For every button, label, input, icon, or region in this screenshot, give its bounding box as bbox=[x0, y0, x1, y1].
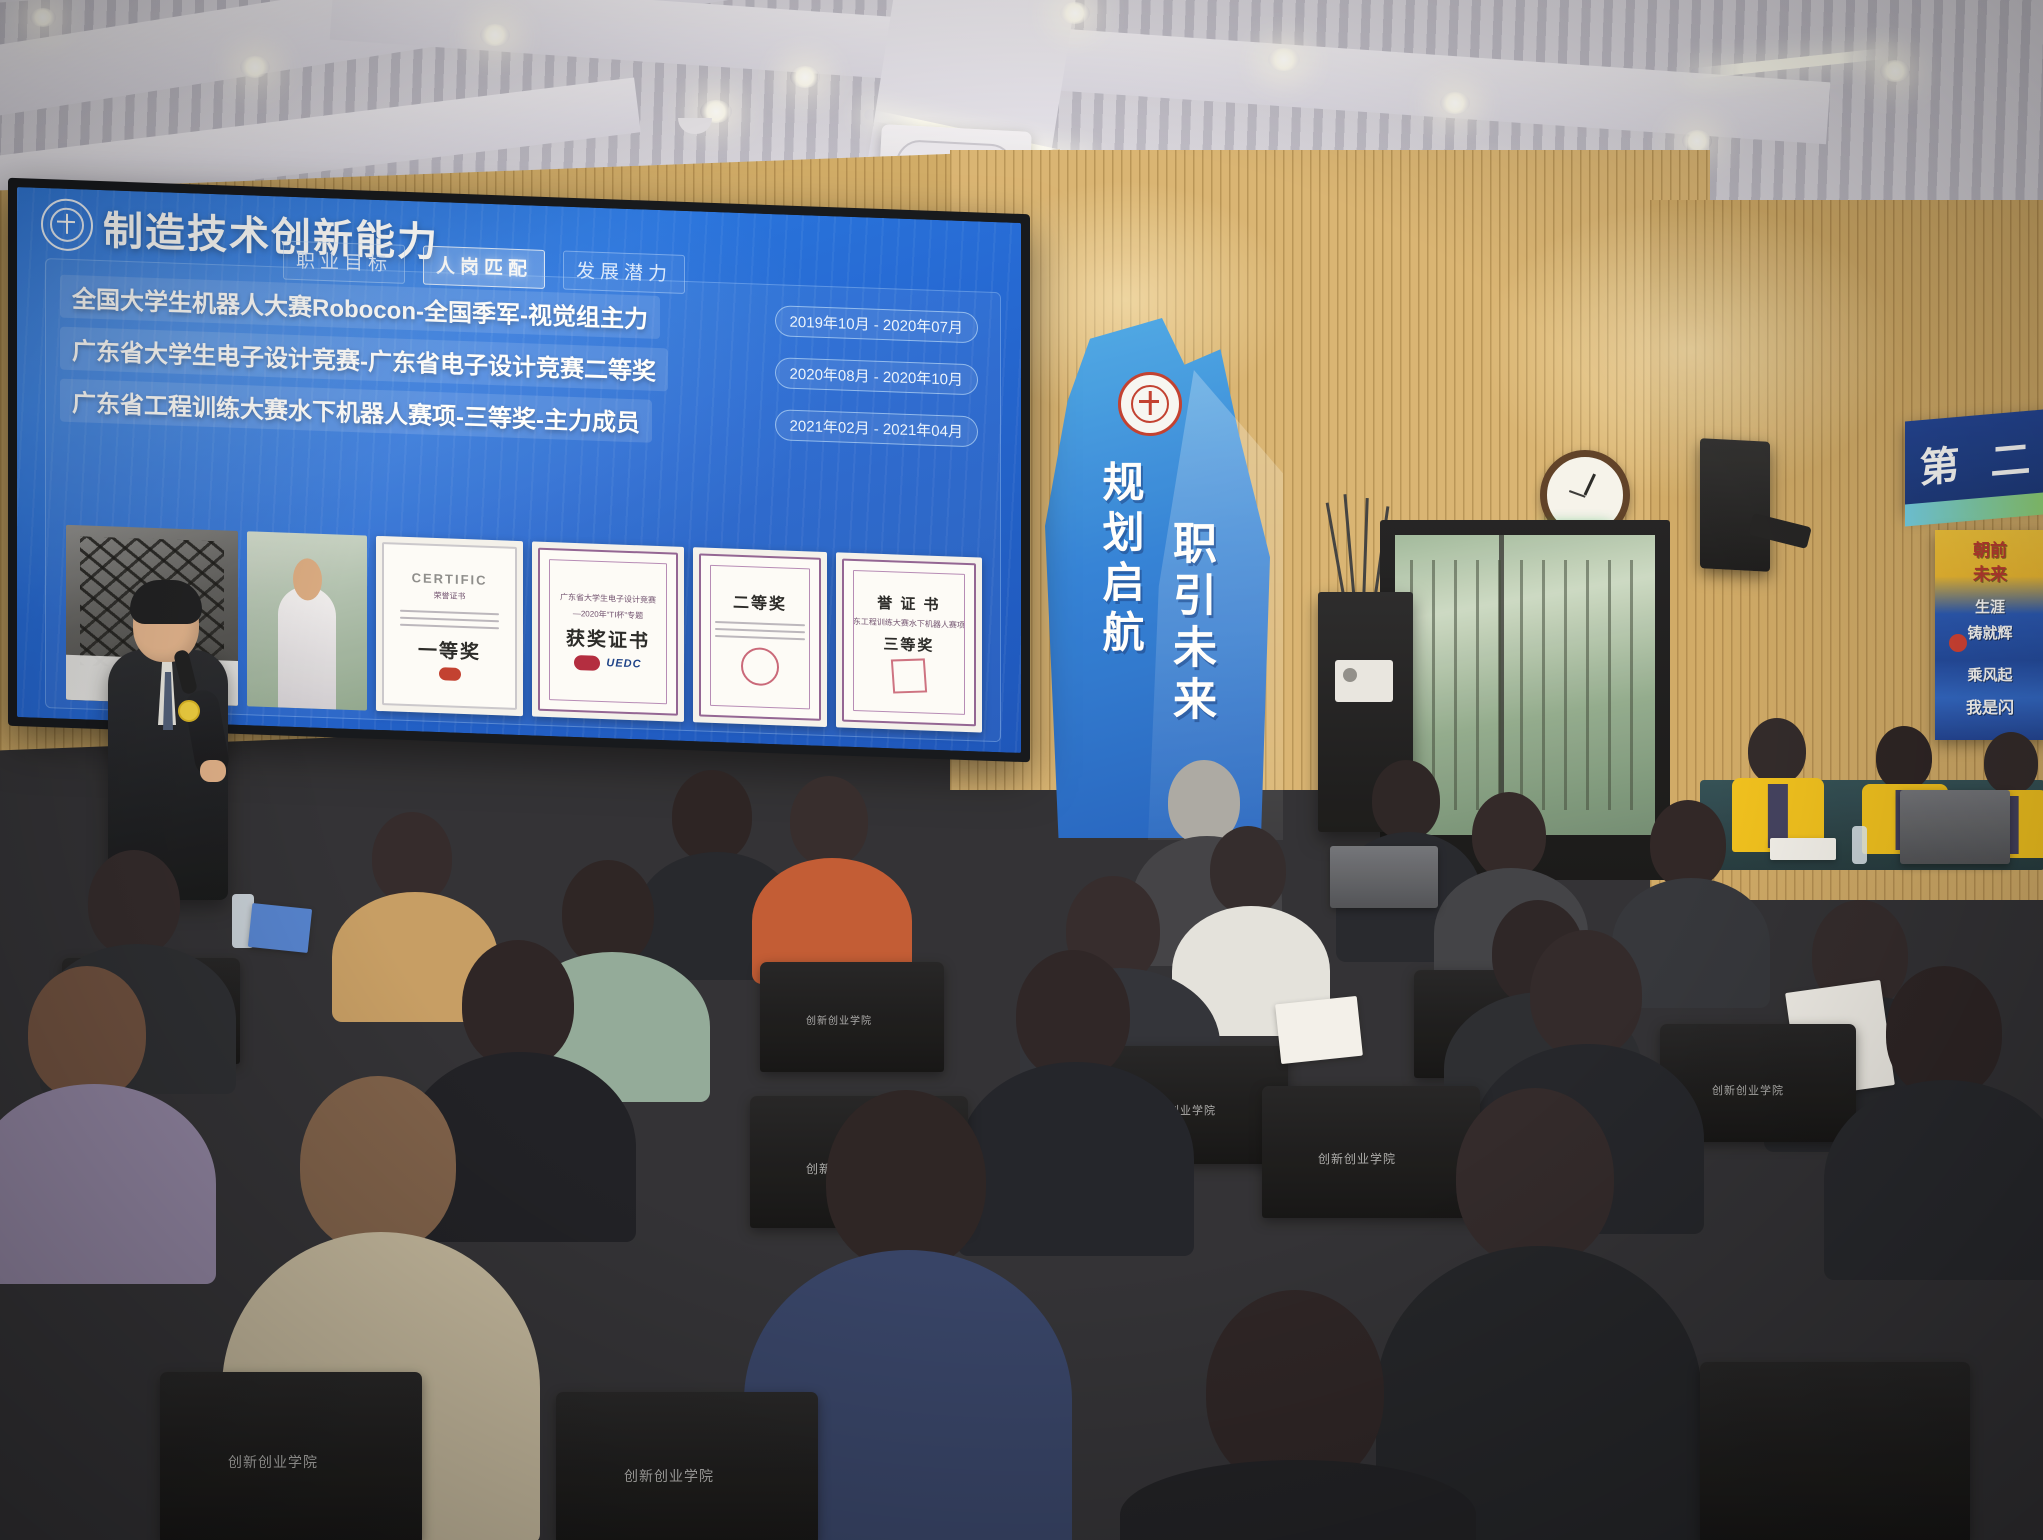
chair-label: 创新创业学院 bbox=[624, 1466, 714, 1486]
door-louvre-bars bbox=[1410, 560, 1640, 810]
chair-label: 创新创业学院 bbox=[1712, 1082, 1784, 1098]
audience-head bbox=[372, 812, 452, 904]
ti-logo-icon bbox=[574, 654, 600, 670]
poster-line: 乘风起 bbox=[1940, 664, 2040, 685]
audience-head bbox=[88, 850, 180, 956]
ceiling-downlight bbox=[30, 8, 56, 27]
poster-line: 生涯 bbox=[1940, 596, 2040, 617]
audience-head bbox=[1372, 760, 1440, 840]
ceiling-downlight bbox=[790, 66, 820, 88]
certificate-card: CERTIFIC 荣誉证书 一等奖 bbox=[376, 536, 522, 716]
presenter-hair bbox=[130, 580, 202, 624]
achievement-date: 2020年08月 - 2020年10月 bbox=[775, 357, 978, 395]
photo-team-member bbox=[247, 531, 368, 710]
ceiling-downlight bbox=[1440, 92, 1470, 114]
chair-label: 创新创业学院 bbox=[228, 1452, 318, 1472]
water-bottle bbox=[1852, 826, 1867, 864]
audience-head bbox=[1016, 950, 1130, 1080]
poster-line: 我是闪 bbox=[1940, 694, 2040, 718]
ceiling-downlight bbox=[1682, 130, 1712, 152]
paper-sheet bbox=[1275, 996, 1363, 1064]
certificate-title: 获奖证书 bbox=[566, 623, 650, 653]
certificate-card: 广东省大学生电子设计竞赛 —2020年“TI杯”专题 获奖证书 UEDC bbox=[532, 541, 685, 721]
paper-sheet bbox=[1770, 838, 1836, 860]
achievement-row: 广东省工程训练大赛水下机器人赛项-三等奖-主力成员 bbox=[60, 380, 652, 441]
certificate-card: 誉 证 书 东工程训练大赛水下机器人赛项 三等奖 bbox=[836, 552, 982, 732]
wall-poster: 朝前 未来 生涯 铸就辉 乘风起 我是闪 bbox=[1935, 530, 2043, 740]
certificate-award-level: 一等奖 bbox=[418, 635, 481, 664]
certificate-competition-name: 东工程训练大赛水下机器人赛项 bbox=[853, 615, 965, 631]
audience-head bbox=[1650, 800, 1726, 888]
standee-slogan-right: 规划启航 bbox=[1090, 460, 1151, 660]
audience-head bbox=[28, 966, 146, 1100]
chair-label: 创新创业学院 bbox=[1318, 1150, 1396, 1167]
uedc-logo-text: UEDC bbox=[606, 657, 641, 670]
wall-speaker bbox=[1700, 438, 1770, 572]
certificate-body: 二等奖 bbox=[699, 553, 821, 720]
staff-head bbox=[1748, 718, 1806, 784]
certificate-seal-icon bbox=[741, 646, 779, 685]
audience-head bbox=[1456, 1088, 1614, 1266]
laptop[interactable] bbox=[1330, 846, 1438, 908]
certificate-badges: UEDC bbox=[574, 654, 641, 671]
chair-label: 创新创业学院 bbox=[806, 1012, 872, 1027]
hall-number-text: 第 二 bbox=[1919, 426, 2040, 495]
university-emblem-icon bbox=[1118, 372, 1182, 436]
staff-head bbox=[1984, 732, 2038, 794]
slide-university-emblem-icon bbox=[41, 198, 93, 252]
audience-body bbox=[0, 1084, 216, 1284]
certificate-text-lines bbox=[400, 605, 499, 635]
poster-line: 未来 bbox=[1940, 560, 2040, 585]
cabinet-control-panel[interactable] bbox=[1335, 660, 1393, 702]
certificate-text-lines bbox=[715, 616, 804, 645]
audience-head bbox=[1530, 930, 1642, 1058]
paper-sheet bbox=[248, 903, 312, 953]
ceiling-downlight bbox=[1268, 48, 1300, 71]
audience-head bbox=[562, 860, 654, 966]
certificate-english-title: CERTIFIC bbox=[412, 570, 488, 588]
staff-head bbox=[1876, 726, 1932, 790]
certificate-award-level: 二等奖 bbox=[733, 588, 787, 614]
laptop[interactable] bbox=[1900, 790, 2010, 864]
certificate-body: 誉 证 书 东工程训练大赛水下机器人赛项 三等奖 bbox=[842, 559, 976, 727]
certificate-title: 誉 证 书 bbox=[877, 591, 940, 614]
certificate-award-level: 三等奖 bbox=[883, 633, 934, 656]
achievement-date: 2019年10月 - 2020年07月 bbox=[775, 305, 978, 343]
audience-body bbox=[1824, 1080, 2043, 1280]
audience-head bbox=[826, 1090, 986, 1270]
certificate-stamp-icon bbox=[891, 658, 927, 693]
audience-head bbox=[1886, 966, 2002, 1098]
presenter-badge bbox=[178, 700, 200, 722]
achievement-row: 广东省大学生电子设计竞赛-广东省电子设计竞赛二等奖 bbox=[60, 328, 668, 390]
certificate-competition-subtitle: —2020年“TI杯”专题 bbox=[573, 607, 643, 622]
achievement-row: 全国大学生机器人大赛Robocon-全国季军-视觉组主力 bbox=[60, 276, 660, 337]
audience-head bbox=[300, 1076, 456, 1252]
certificate-competition-name: 广东省大学生电子设计竞赛 bbox=[560, 591, 656, 606]
presenter-hand bbox=[200, 760, 226, 782]
certificate-logo-icon bbox=[439, 667, 461, 681]
ceiling-downlight bbox=[1060, 2, 1090, 24]
achievement-text: 广东省工程训练大赛水下机器人赛项-三等奖-主力成员 bbox=[60, 378, 652, 442]
ceiling-downlight bbox=[480, 24, 510, 46]
certificate-card: 二等奖 bbox=[693, 547, 827, 727]
poster-dot-icon bbox=[1949, 634, 1967, 652]
audience-head bbox=[462, 940, 574, 1068]
audience-head bbox=[790, 776, 868, 866]
ceiling-downlight bbox=[1880, 60, 1910, 82]
lecture-hall-photo: EXIT 第 二 朝前 未来 生涯 铸就辉 乘风起 我是闪 规划启航 职引未来 … bbox=[0, 0, 2043, 1540]
audience-head bbox=[1210, 826, 1286, 914]
audience-head bbox=[672, 770, 752, 862]
achievement-date: 2021年02月 - 2021年04月 bbox=[775, 409, 978, 447]
audience-head bbox=[1472, 792, 1546, 878]
audience-body bbox=[958, 1062, 1194, 1256]
certificate-body: 广东省大学生电子设计竞赛 —2020年“TI杯”专题 获奖证书 UEDC bbox=[538, 548, 679, 716]
certificate-body: CERTIFIC 荣誉证书 一等奖 bbox=[382, 542, 516, 710]
ceiling-downlight bbox=[240, 56, 270, 78]
poster-line: 朝前 bbox=[1940, 536, 2040, 561]
certificate-subtitle: 荣誉证书 bbox=[434, 590, 466, 603]
auditorium-chair[interactable] bbox=[1700, 1362, 1970, 1540]
standee-slogan-left: 职引未来 bbox=[1158, 520, 1222, 728]
